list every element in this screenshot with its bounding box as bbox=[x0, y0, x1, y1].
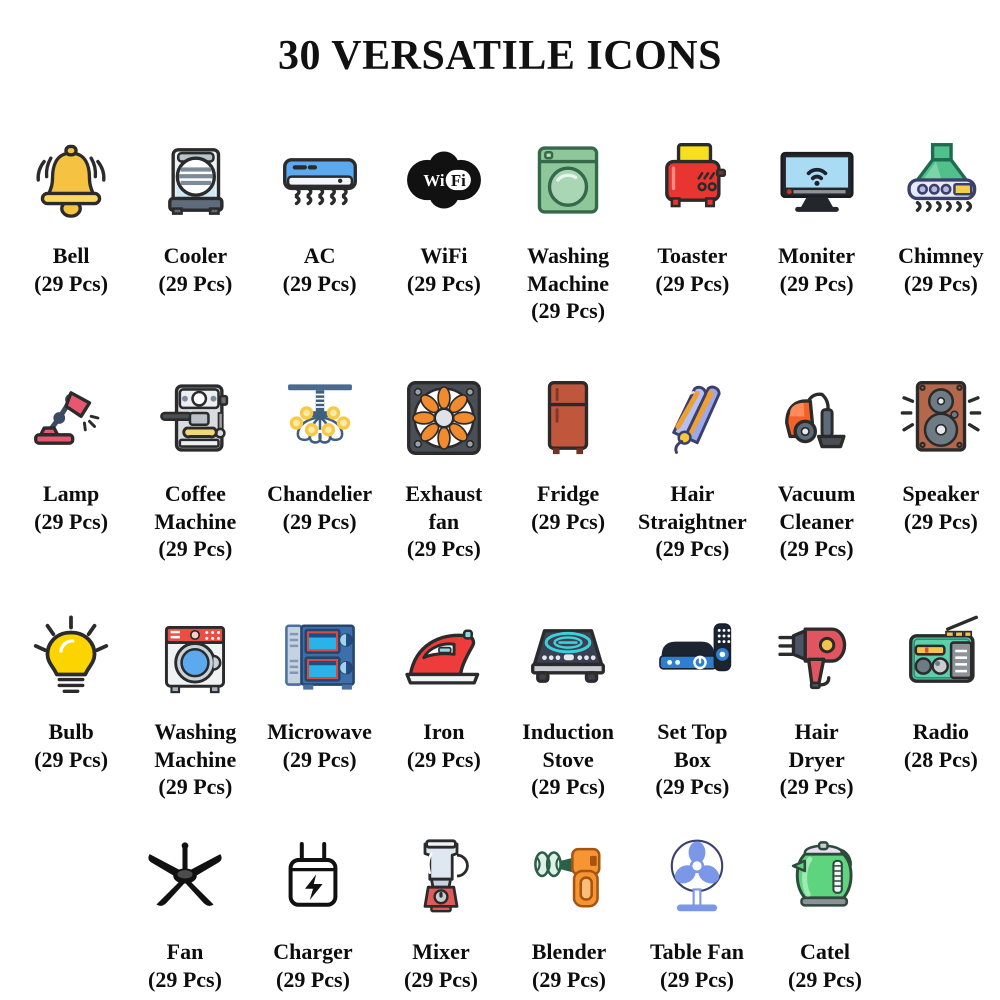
toaster-icon[interactable] bbox=[650, 132, 734, 228]
icon-count: (28 Pcs) bbox=[904, 746, 978, 774]
page-title: 30 VERSATILE ICONS bbox=[0, 32, 1000, 80]
icon-label: Exhaust fan bbox=[405, 480, 482, 535]
icon-cell-coffee-machine[interactable]: Coffee Machine(29 Pcs) bbox=[136, 370, 254, 563]
icon-label: Bulb bbox=[48, 718, 93, 746]
icon-cell-ceiling-fan[interactable]: Fan(29 Pcs) bbox=[124, 828, 246, 993]
icon-count: (29 Pcs) bbox=[655, 270, 729, 298]
vacuum-cleaner-icon[interactable] bbox=[773, 370, 861, 466]
bulb-icon[interactable] bbox=[29, 608, 113, 704]
icon-cell-mixer[interactable]: Mixer(29 Pcs) bbox=[380, 828, 502, 993]
icon-cell-ac[interactable]: AC(29 Pcs) bbox=[261, 132, 379, 297]
bell-icon[interactable] bbox=[29, 132, 113, 228]
icon-label: Cooler bbox=[164, 242, 228, 270]
icon-count: (29 Pcs) bbox=[660, 966, 734, 994]
icon-label: Iron bbox=[423, 718, 464, 746]
icon-cell-wifi[interactable]: WiFiWiFi(29 Pcs) bbox=[385, 132, 503, 297]
fridge-icon[interactable] bbox=[526, 370, 610, 466]
icon-count: (29 Pcs) bbox=[276, 966, 350, 994]
icon-row-1: Bell(29 Pcs)Cooler(29 Pcs)AC(29 Pcs)WiFi… bbox=[0, 132, 1000, 325]
icon-label: Lamp bbox=[43, 480, 99, 508]
icon-pack-poster: 30 VERSATILE ICONS Bell(29 Pcs)Cooler(29… bbox=[0, 0, 1000, 1000]
icon-row-3: Bulb(29 Pcs)Washing Machine(29 Pcs)Micro… bbox=[0, 608, 1000, 801]
icon-count: (29 Pcs) bbox=[788, 966, 862, 994]
desk-lamp-icon[interactable] bbox=[29, 370, 113, 466]
radio-icon[interactable] bbox=[897, 608, 985, 704]
blender-icon[interactable] bbox=[527, 828, 611, 924]
icon-cell-hair-dryer[interactable]: Hair Dryer(29 Pcs) bbox=[758, 608, 876, 801]
icon-label: Hair Dryer bbox=[789, 718, 845, 773]
icon-cell-microwave[interactable]: Microwave(29 Pcs) bbox=[261, 608, 379, 773]
chandelier-icon[interactable] bbox=[276, 370, 364, 466]
icon-label: Vacuum Cleaner bbox=[778, 480, 855, 535]
icon-cell-chandelier[interactable]: Chandelier(29 Pcs) bbox=[261, 370, 379, 535]
microwave-icon[interactable] bbox=[278, 608, 362, 704]
icon-cell-hair-straightener[interactable]: Hair Straightner(29 Pcs) bbox=[633, 370, 751, 563]
charger-icon[interactable] bbox=[273, 828, 353, 924]
icon-count: (29 Pcs) bbox=[532, 966, 606, 994]
icon-cell-blender[interactable]: Blender(29 Pcs) bbox=[508, 828, 630, 993]
icon-count: (29 Pcs) bbox=[34, 508, 108, 536]
ceiling-fan-icon[interactable] bbox=[141, 828, 229, 924]
mixer-icon[interactable] bbox=[401, 828, 481, 924]
table-fan-icon[interactable] bbox=[655, 828, 739, 924]
icon-count: (29 Pcs) bbox=[283, 270, 357, 298]
icon-cell-set-top-box[interactable]: Set Top Box(29 Pcs) bbox=[633, 608, 751, 801]
svg-text:Wi: Wi bbox=[423, 171, 444, 190]
icon-count: (29 Pcs) bbox=[531, 508, 605, 536]
icon-label: AC bbox=[304, 242, 336, 270]
icon-count: (29 Pcs) bbox=[780, 270, 854, 298]
washing-machine-white-icon[interactable] bbox=[153, 608, 237, 704]
icon-count: (29 Pcs) bbox=[283, 508, 357, 536]
icon-cell-desk-lamp[interactable]: Lamp(29 Pcs) bbox=[12, 370, 130, 535]
icon-cell-speaker[interactable]: Speaker(29 Pcs) bbox=[882, 370, 1000, 535]
icon-label: Washing Machine bbox=[527, 242, 609, 297]
icon-count: (29 Pcs) bbox=[531, 297, 605, 325]
svg-text:Fi: Fi bbox=[451, 171, 466, 190]
icon-count: (29 Pcs) bbox=[158, 535, 232, 563]
exhaust-fan-icon[interactable] bbox=[402, 370, 486, 466]
coffee-machine-icon[interactable] bbox=[153, 370, 237, 466]
icon-count: (29 Pcs) bbox=[904, 508, 978, 536]
wifi-icon[interactable]: WiFi bbox=[400, 132, 488, 228]
icon-count: (29 Pcs) bbox=[283, 746, 357, 774]
icon-cell-toaster[interactable]: Toaster(29 Pcs) bbox=[633, 132, 751, 297]
icon-cell-washing-machine-green[interactable]: Washing Machine(29 Pcs) bbox=[509, 132, 627, 325]
icon-count: (29 Pcs) bbox=[407, 746, 481, 774]
iron-icon[interactable] bbox=[400, 608, 488, 704]
ac-icon[interactable] bbox=[278, 132, 362, 228]
icon-label: Table Fan bbox=[650, 938, 744, 966]
chimney-icon[interactable] bbox=[897, 132, 985, 228]
icon-count: (29 Pcs) bbox=[34, 270, 108, 298]
icon-count: (29 Pcs) bbox=[407, 270, 481, 298]
icon-cell-iron[interactable]: Iron(29 Pcs) bbox=[385, 608, 503, 773]
kettle-icon[interactable] bbox=[783, 828, 867, 924]
icon-cell-washing-machine-white[interactable]: Washing Machine(29 Pcs) bbox=[136, 608, 254, 801]
icon-count: (29 Pcs) bbox=[404, 966, 478, 994]
icon-label: Microwave bbox=[267, 718, 372, 746]
icon-label: Charger bbox=[273, 938, 352, 966]
icon-label: Chandelier bbox=[267, 480, 372, 508]
icon-row-4: Fan(29 Pcs)Charger(29 Pcs)Mixer(29 Pcs)B… bbox=[0, 828, 1000, 993]
icon-label: Fridge bbox=[537, 480, 599, 508]
icon-label: Speaker bbox=[902, 480, 979, 508]
icon-cell-induction-stove[interactable]: Induction Stove(29 Pcs) bbox=[509, 608, 627, 801]
icon-count: (29 Pcs) bbox=[531, 773, 605, 801]
icon-count: (29 Pcs) bbox=[34, 746, 108, 774]
induction-stove-icon[interactable] bbox=[524, 608, 612, 704]
icon-cell-charger[interactable]: Charger(29 Pcs) bbox=[252, 828, 374, 993]
icon-cell-table-fan[interactable]: Table Fan(29 Pcs) bbox=[636, 828, 758, 993]
icon-label: Catel bbox=[800, 938, 850, 966]
cooler-icon[interactable] bbox=[153, 132, 237, 228]
icon-label: Mixer bbox=[412, 938, 469, 966]
icon-count: (29 Pcs) bbox=[780, 773, 854, 801]
icon-cell-fridge[interactable]: Fridge(29 Pcs) bbox=[509, 370, 627, 535]
icon-label: Bell bbox=[53, 242, 90, 270]
icon-count: (29 Pcs) bbox=[158, 773, 232, 801]
icon-count: (29 Pcs) bbox=[158, 270, 232, 298]
icon-cell-radio[interactable]: Radio(28 Pcs) bbox=[882, 608, 1000, 773]
icon-label: Chimney bbox=[898, 242, 984, 270]
icon-label: Washing Machine bbox=[154, 718, 236, 773]
icon-cell-vacuum-cleaner[interactable]: Vacuum Cleaner(29 Pcs) bbox=[758, 370, 876, 563]
icon-count: (29 Pcs) bbox=[904, 270, 978, 298]
icon-cell-chimney[interactable]: Chimney(29 Pcs) bbox=[882, 132, 1000, 297]
icon-label: Toaster bbox=[657, 242, 727, 270]
icon-count: (29 Pcs) bbox=[407, 535, 481, 563]
icon-label: Induction Stove bbox=[522, 718, 614, 773]
icon-count: (29 Pcs) bbox=[655, 773, 729, 801]
monitor-icon[interactable] bbox=[773, 132, 861, 228]
icon-cell-bell[interactable]: Bell(29 Pcs) bbox=[12, 132, 130, 297]
icon-cell-exhaust-fan[interactable]: Exhaust fan(29 Pcs) bbox=[385, 370, 503, 563]
icon-count: (29 Pcs) bbox=[655, 535, 729, 563]
icon-count: (29 Pcs) bbox=[148, 966, 222, 994]
icon-count: (29 Pcs) bbox=[780, 535, 854, 563]
icon-label: Coffee Machine bbox=[154, 480, 236, 535]
icon-cell-cooler[interactable]: Cooler(29 Pcs) bbox=[136, 132, 254, 297]
icon-label: Radio bbox=[913, 718, 969, 746]
icon-row-2: Lamp(29 Pcs)Coffee Machine(29 Pcs)Chande… bbox=[0, 370, 1000, 563]
icon-label: Hair Straightner bbox=[638, 480, 747, 535]
icon-cell-monitor[interactable]: Moniter(29 Pcs) bbox=[758, 132, 876, 297]
speaker-icon[interactable] bbox=[897, 370, 985, 466]
set-top-box-icon[interactable] bbox=[648, 608, 736, 704]
icon-label: Moniter bbox=[778, 242, 855, 270]
hair-straightener-icon[interactable] bbox=[650, 370, 734, 466]
washing-machine-green-icon[interactable] bbox=[526, 132, 610, 228]
icon-cell-bulb[interactable]: Bulb(29 Pcs) bbox=[12, 608, 130, 773]
icon-label: Fan bbox=[167, 938, 204, 966]
icon-label: Set Top Box bbox=[657, 718, 727, 773]
icon-label: Blender bbox=[532, 938, 607, 966]
icon-label: WiFi bbox=[420, 242, 467, 270]
icon-cell-kettle[interactable]: Catel(29 Pcs) bbox=[764, 828, 886, 993]
hair-dryer-icon[interactable] bbox=[775, 608, 859, 704]
